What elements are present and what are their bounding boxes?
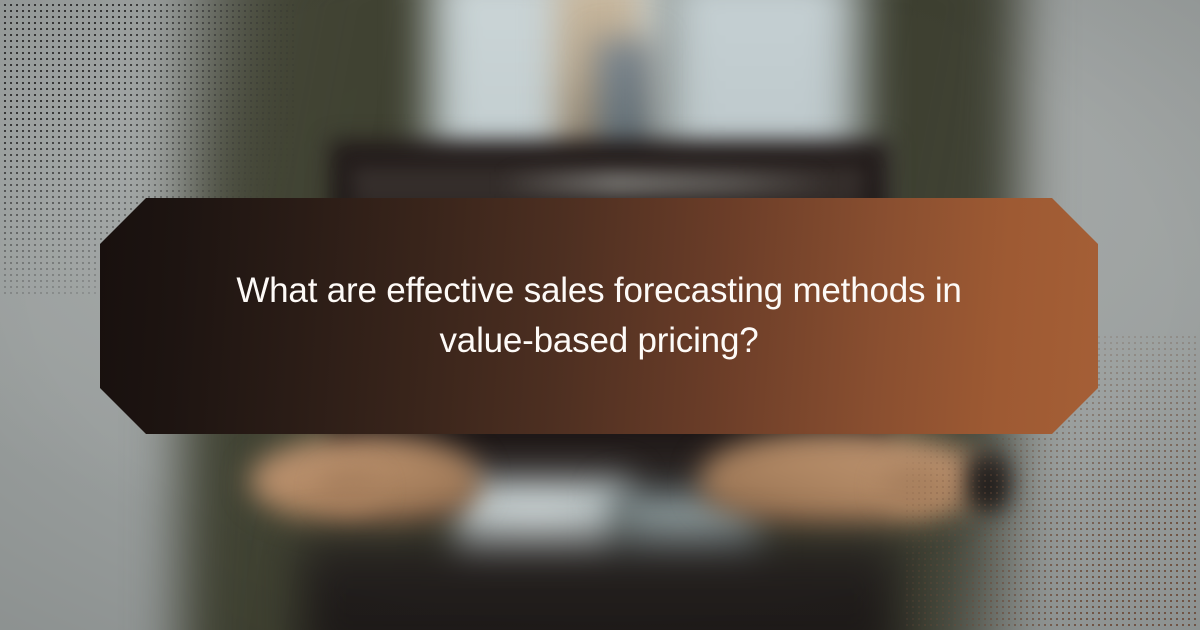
headline-banner: What are effective sales forecasting met…: [100, 198, 1098, 434]
page-title: What are effective sales forecasting met…: [199, 266, 999, 365]
banner-stage: What are effective sales forecasting met…: [0, 0, 1200, 630]
